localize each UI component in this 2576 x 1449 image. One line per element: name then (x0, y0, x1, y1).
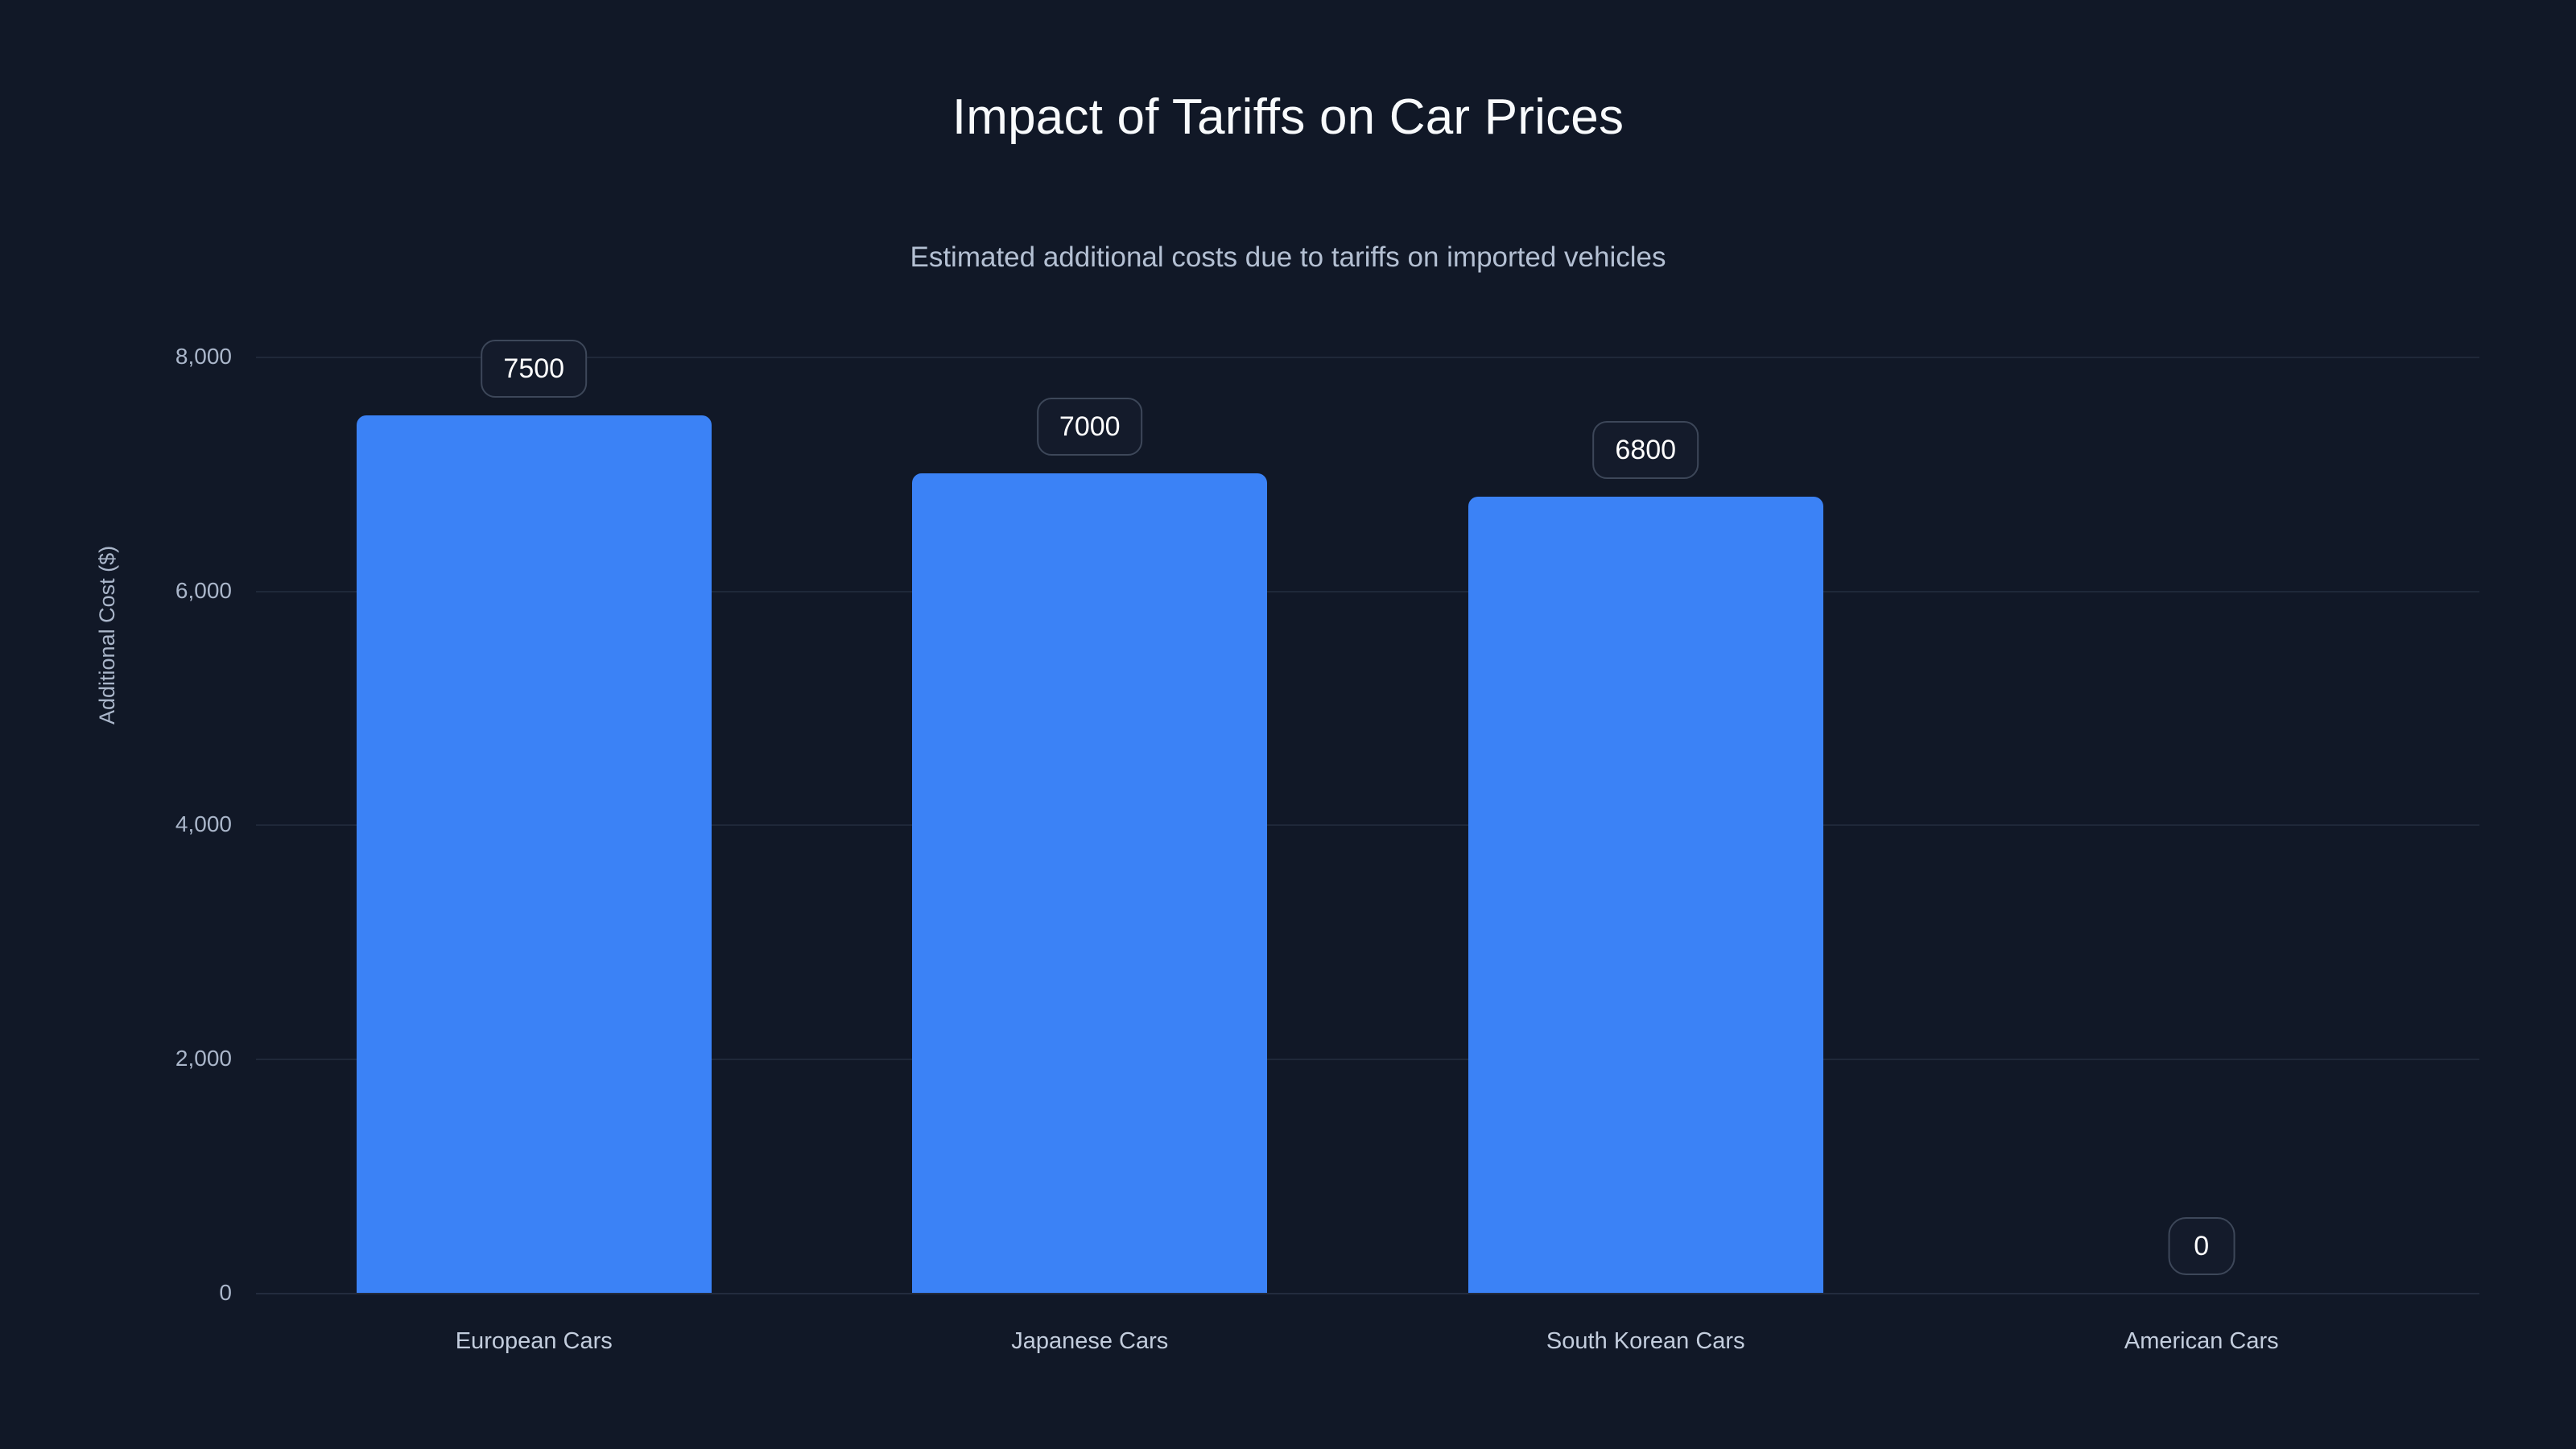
gridline-0 (256, 1293, 2479, 1294)
y-tick-label: 0 (103, 1280, 232, 1306)
x-tick-label: South Korean Cars (1546, 1328, 1745, 1355)
value-label: 0 (2168, 1217, 2235, 1275)
x-tick-label: European Cars (456, 1328, 613, 1355)
y-tick-label: 8,000 (103, 344, 232, 369)
gridline-8000 (256, 357, 2479, 358)
bar-japanese-cars[interactable] (912, 473, 1267, 1293)
bar-south-korean-cars[interactable] (1468, 497, 1823, 1293)
plot-area (256, 316, 2479, 1293)
chart-title: Impact of Tariffs on Car Prices (0, 89, 2576, 146)
value-label: 7000 (1037, 398, 1143, 456)
bar-european-cars[interactable] (357, 415, 712, 1293)
y-tick-label: 4,000 (103, 811, 232, 837)
value-label: 6800 (1592, 421, 1699, 479)
x-tick-label: Japanese Cars (1011, 1328, 1168, 1355)
x-tick-label: American Cars (2124, 1328, 2279, 1355)
chart-subtitle: Estimated additional costs due to tariff… (0, 242, 2576, 274)
y-tick-label: 6,000 (103, 578, 232, 604)
y-tick-label: 2,000 (103, 1046, 232, 1071)
value-label: 7500 (481, 340, 587, 398)
bar-chart-container: Impact of Tariffs on Car Prices Estimate… (0, 0, 2576, 1449)
y-axis-title: Additional Cost ($) (95, 546, 120, 724)
